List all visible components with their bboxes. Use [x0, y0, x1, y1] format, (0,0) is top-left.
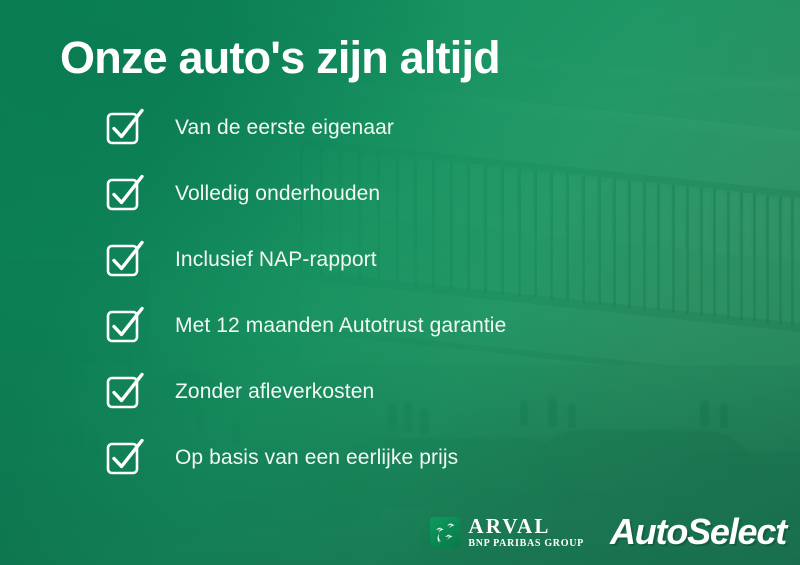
headline: Onze auto's zijn altijd [60, 34, 500, 81]
arval-name: ARVAL [468, 516, 584, 537]
promo-banner: Onze auto's zijn altijd Van de eerste ei… [0, 0, 800, 565]
checklist-item-label: Inclusief NAP-rapport [175, 248, 377, 272]
checklist-item: Inclusief NAP-rapport [105, 239, 506, 281]
benefits-checklist: Van de eerste eigenaarVolledig onderhoud… [105, 107, 506, 503]
checkbox-checked-icon [105, 439, 143, 477]
checklist-item: Op basis van een eerlijke prijs [105, 437, 506, 479]
checklist-item: Van de eerste eigenaar [105, 107, 506, 149]
arval-wordmark: ARVAL BNP PARIBAS GROUP [468, 516, 584, 549]
bnp-paribas-group-name: BNP PARIBAS GROUP [468, 539, 584, 549]
checklist-item: Zonder afleverkosten [105, 371, 506, 413]
checklist-item: Volledig onderhouden [105, 173, 506, 215]
checkbox-checked-icon [105, 109, 143, 147]
checklist-item-label: Van de eerste eigenaar [175, 116, 394, 140]
bnp-paribas-stars-icon [430, 517, 460, 547]
checkbox-checked-icon [105, 241, 143, 279]
arval-logo: ARVAL BNP PARIBAS GROUP [430, 516, 584, 549]
checklist-item-label: Zonder afleverkosten [175, 380, 374, 404]
banner-content: Onze auto's zijn altijd Van de eerste ei… [0, 0, 800, 565]
checkbox-checked-icon [105, 307, 143, 345]
checklist-item-label: Volledig onderhouden [175, 182, 380, 206]
logo-group: ARVAL BNP PARIBAS GROUP AutoSelect [430, 511, 786, 553]
checkbox-checked-icon [105, 175, 143, 213]
checklist-item-label: Op basis van een eerlijke prijs [175, 446, 458, 470]
autoselect-logo: AutoSelect [610, 511, 786, 553]
checklist-item-label: Met 12 maanden Autotrust garantie [175, 314, 506, 338]
checklist-item: Met 12 maanden Autotrust garantie [105, 305, 506, 347]
checkbox-checked-icon [105, 373, 143, 411]
